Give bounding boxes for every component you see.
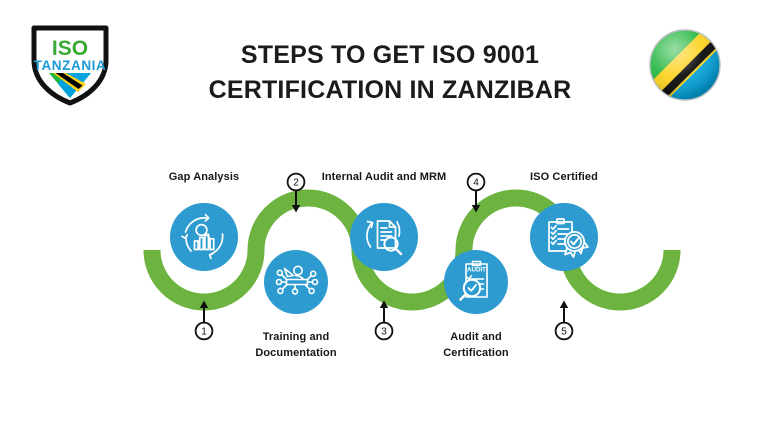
step-circle-4[interactable]: AUDIT xyxy=(444,250,508,314)
step-circle-2[interactable] xyxy=(264,250,328,314)
process-flow: AUDIT xyxy=(0,150,768,390)
step-label-4-line-2: Certification xyxy=(416,346,536,362)
step-badge-5: 5 xyxy=(556,301,573,340)
wave-arc-2 xyxy=(256,198,360,250)
iso-tanzania-shield-logo: ISO TANZANIA xyxy=(20,22,120,108)
step-label-4: Audit and Certification xyxy=(416,330,536,362)
step-badge-4-number: 4 xyxy=(473,178,479,189)
page-title-line-2: CERTIFICATION IN ZANZIBAR xyxy=(184,73,596,108)
step-label-2: Training and Documentation xyxy=(236,330,356,362)
step-label-4-line-1: Audit and xyxy=(416,330,536,346)
step-label-3: Internal Audit and MRM xyxy=(304,170,464,186)
logo-word-iso: ISO xyxy=(52,37,88,60)
step-circle-5[interactable] xyxy=(530,203,598,271)
step-label-1-line-1: Gap Analysis xyxy=(144,170,264,186)
audit-icon-label: AUDIT xyxy=(467,267,486,274)
step-badge-1-number: 1 xyxy=(201,327,207,338)
step-label-5: ISO Certified xyxy=(504,170,624,186)
infographic-canvas: ISO TANZANIA STEP xyxy=(0,0,768,432)
page-title: STEPS TO GET ISO 9001 CERTIFICATION IN Z… xyxy=(184,38,596,107)
step-circle-1[interactable] xyxy=(170,203,238,271)
page-title-line-1: STEPS TO GET ISO 9001 xyxy=(184,38,596,73)
step-label-2-line-1: Training and xyxy=(236,330,356,346)
step-label-5-line-1: ISO Certified xyxy=(504,170,624,186)
step-label-3-line-1: Internal Audit and MRM xyxy=(304,170,464,186)
tanzania-flag-badge xyxy=(648,28,722,102)
step-label-2-line-2: Documentation xyxy=(236,346,356,362)
step-badge-5-number: 5 xyxy=(561,327,567,338)
step-badge-2-number: 2 xyxy=(293,178,299,189)
step-badge-3-number: 3 xyxy=(381,327,387,338)
logo-word-tanzania: TANZANIA xyxy=(34,58,107,73)
step-circle-3[interactable] xyxy=(350,203,418,271)
step-label-1: Gap Analysis xyxy=(144,170,264,186)
flow-graphics: AUDIT xyxy=(0,150,768,390)
